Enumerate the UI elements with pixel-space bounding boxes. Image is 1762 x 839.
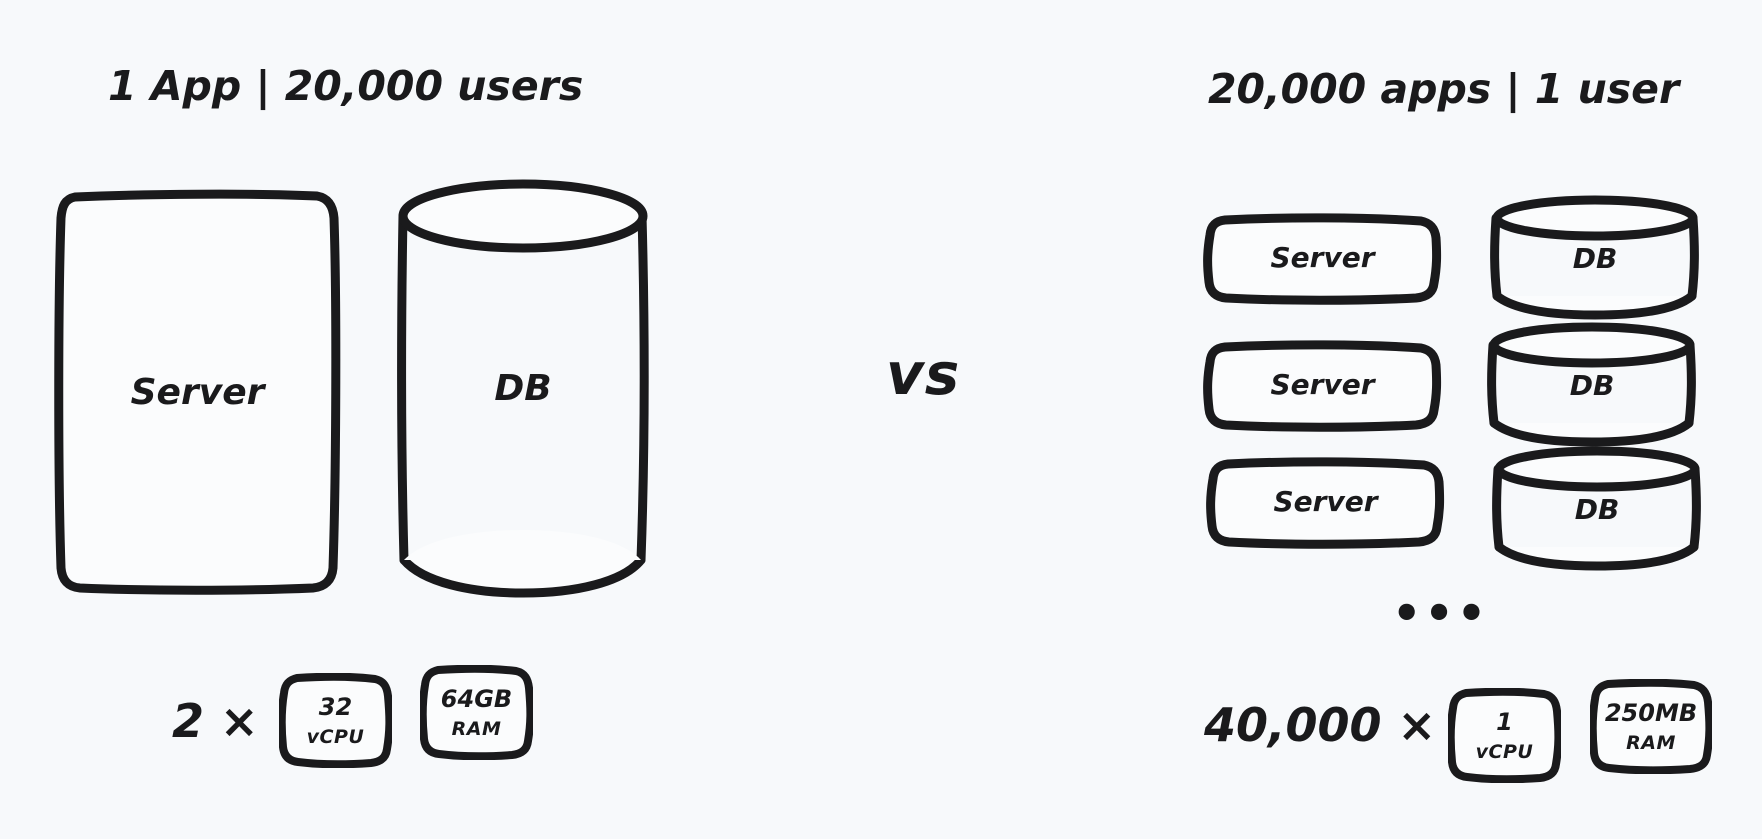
server-box-outline bbox=[1205, 215, 1440, 303]
right-ram-chip-value: 250MB bbox=[1590, 699, 1712, 727]
right-db-cylinder-2: DB bbox=[1487, 323, 1697, 445]
left-cpu-chip: 32 vCPU bbox=[279, 673, 392, 768]
left-multiplier-label: 2 × bbox=[172, 694, 259, 748]
db-cylinder-outline bbox=[395, 178, 651, 598]
left-ram-chip-value: 64GB bbox=[420, 685, 533, 713]
right-db-cylinder-3: DB bbox=[1492, 447, 1702, 569]
right-server-box-3: Server bbox=[1208, 459, 1443, 547]
right-cpu-chip: 1 vCPU bbox=[1448, 688, 1561, 783]
server-box-outline bbox=[55, 188, 340, 595]
server-box-outline bbox=[1205, 342, 1440, 430]
right-cpu-chip-unit: vCPU bbox=[1448, 741, 1561, 763]
right-server-box-2: Server bbox=[1205, 342, 1440, 430]
left-cpu-chip-value: 32 bbox=[279, 693, 392, 721]
right-multiplier-label: 40,000 × bbox=[1204, 698, 1436, 752]
right-ram-chip-unit: RAM bbox=[1590, 732, 1712, 754]
left-server-box: Server bbox=[55, 188, 340, 595]
vs-divider-label: vs bbox=[886, 340, 960, 408]
left-db-cylinder: DB bbox=[395, 178, 651, 598]
db-cylinder-outline bbox=[1487, 323, 1697, 445]
continuation-ellipsis: ••• bbox=[1392, 590, 1489, 636]
right-ram-chip: 250MB RAM bbox=[1590, 679, 1712, 774]
left-cpu-chip-unit: vCPU bbox=[279, 726, 392, 748]
left-panel-title: 1 App | 20,000 users bbox=[108, 62, 583, 110]
diagram-canvas: 1 App | 20,000 users Server DB vs 2 × 32 bbox=[0, 0, 1762, 839]
left-ram-chip-unit: RAM bbox=[420, 718, 533, 740]
right-db-cylinder-1: DB bbox=[1490, 196, 1700, 318]
left-ram-chip: 64GB RAM bbox=[420, 665, 533, 760]
right-cpu-chip-value: 1 bbox=[1448, 708, 1561, 736]
right-server-box-1: Server bbox=[1205, 215, 1440, 303]
server-box-outline bbox=[1208, 459, 1443, 547]
right-panel-title: 20,000 apps | 1 user bbox=[1208, 65, 1679, 113]
db-cylinder-outline bbox=[1492, 447, 1702, 569]
db-cylinder-outline bbox=[1490, 196, 1700, 318]
